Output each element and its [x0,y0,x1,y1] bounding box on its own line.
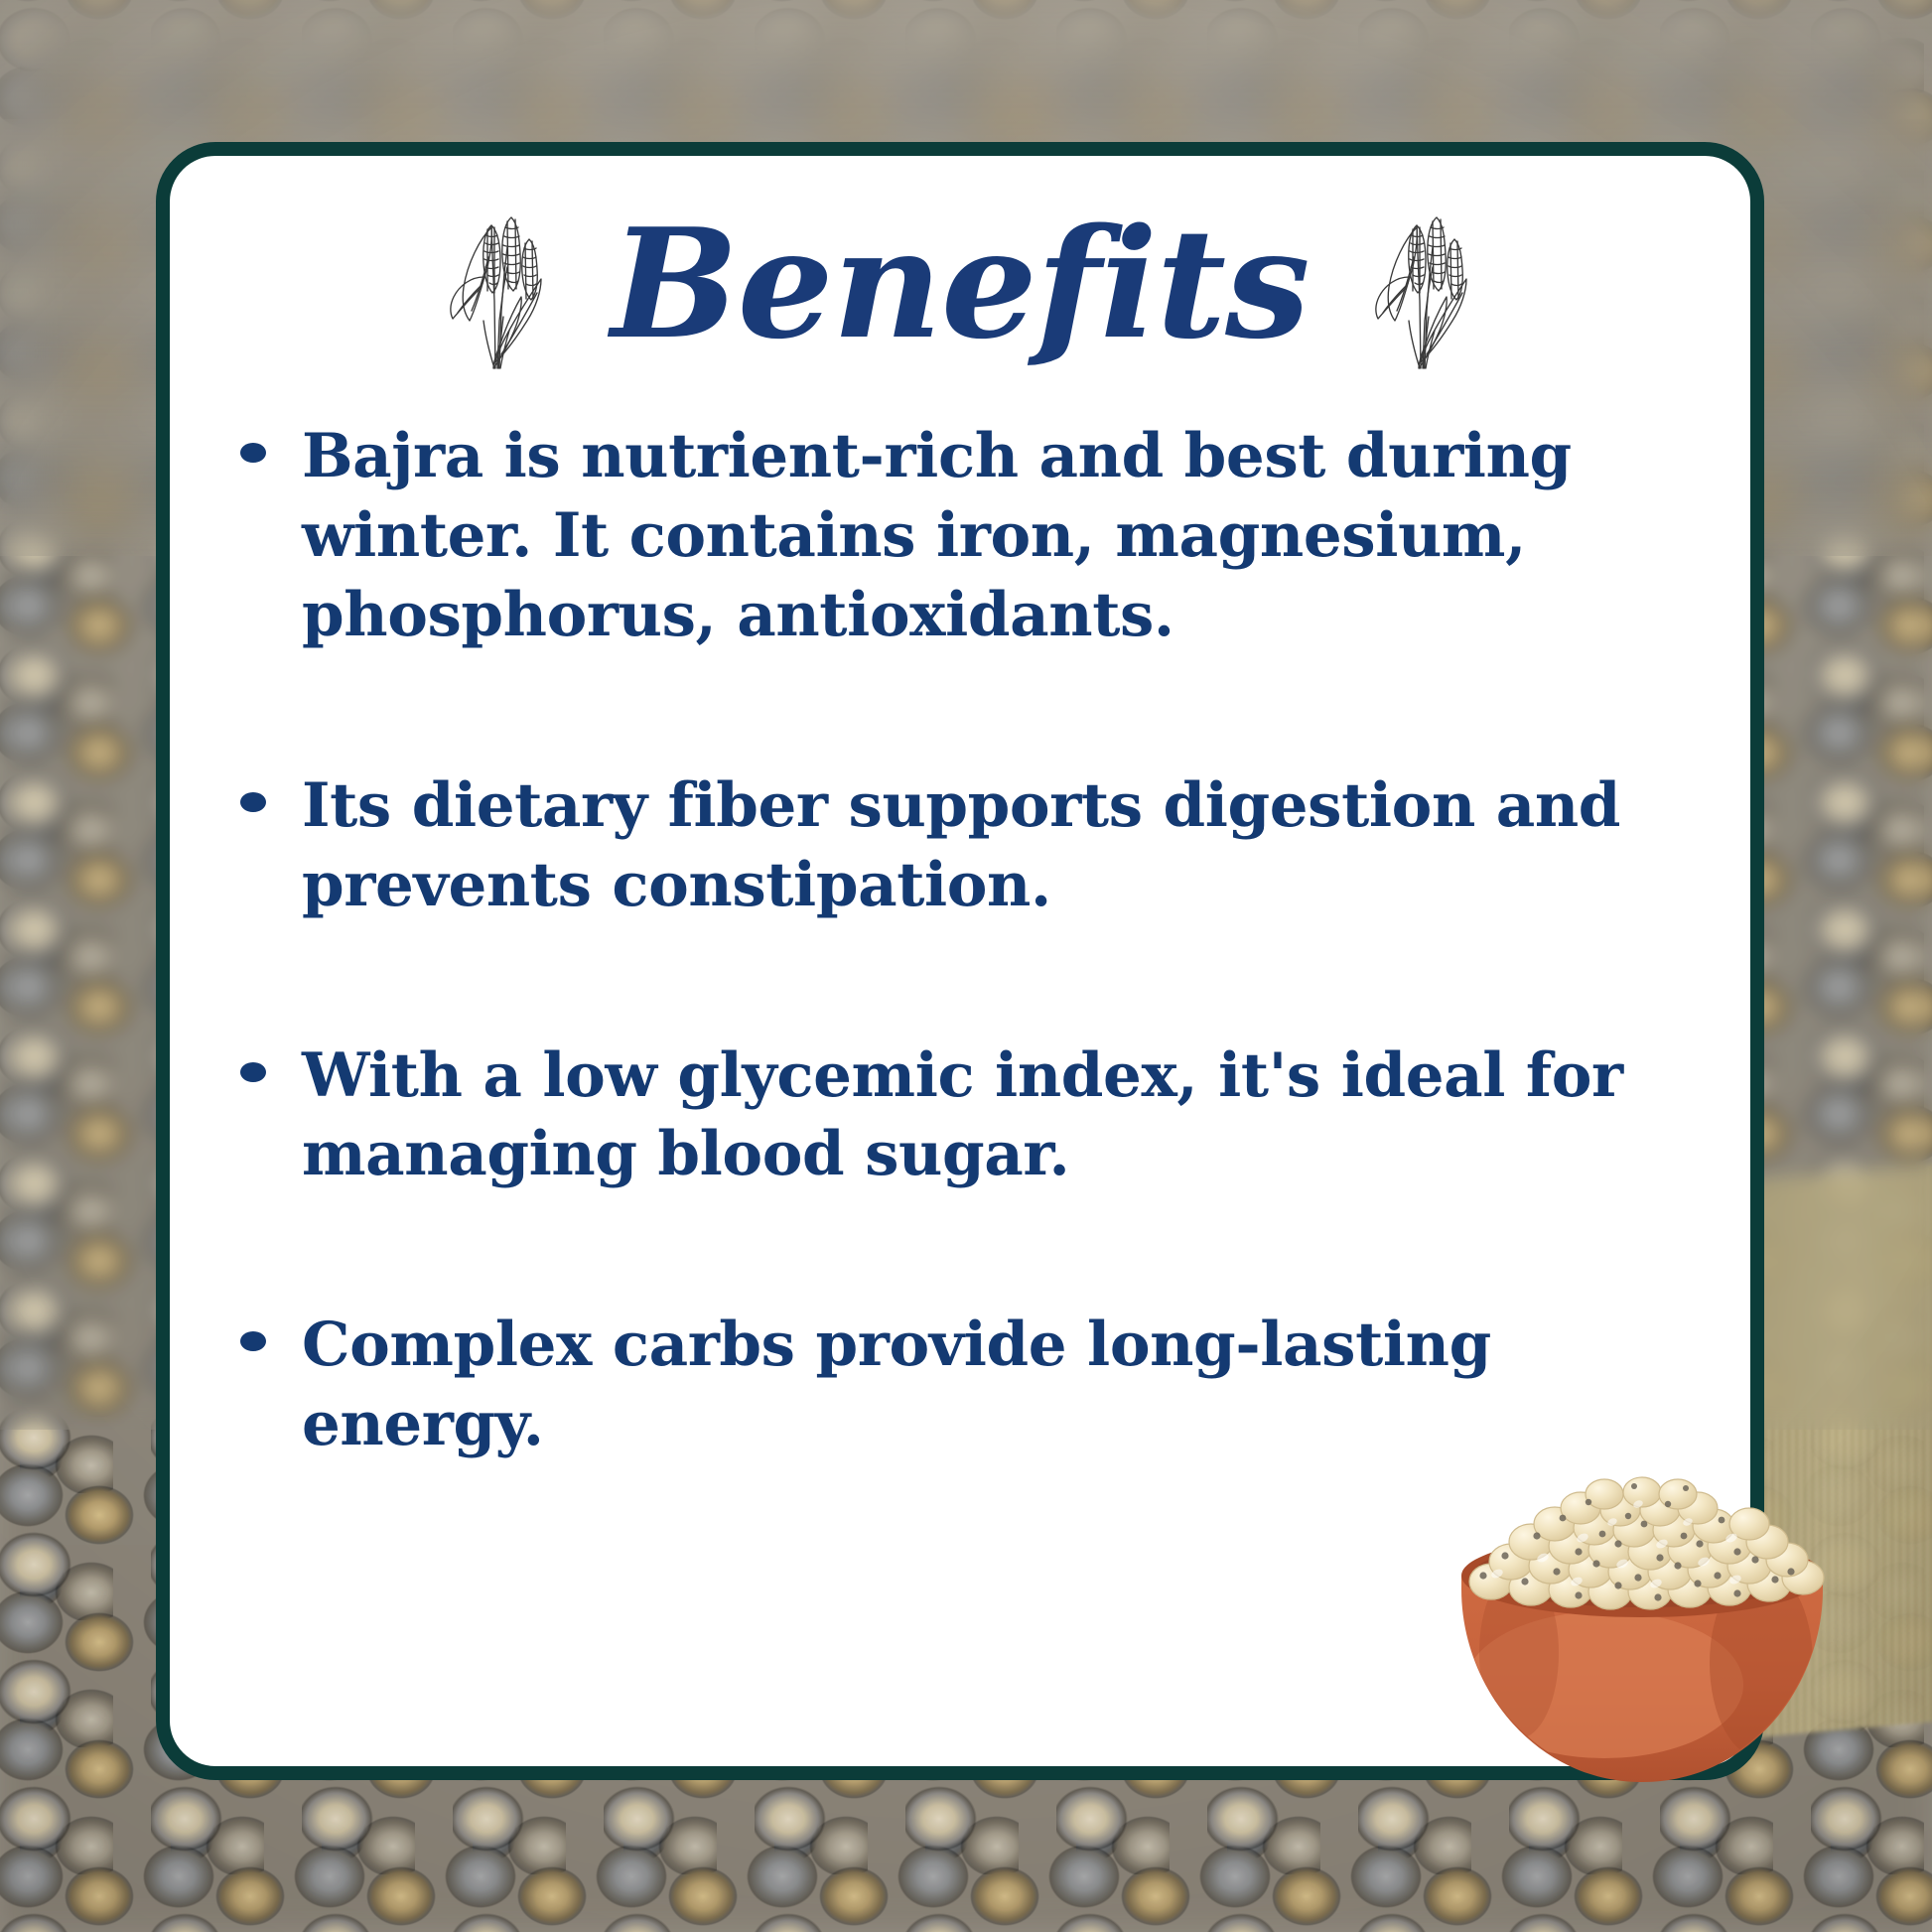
list-item: Bajra is nutrient-rich and best during w… [240,417,1710,655]
bullet-dot-icon [240,792,266,812]
benefit-text-2: Its dietary fiber supports digestion and… [302,766,1710,925]
poster: Benefits [0,0,1932,1932]
page-title: Benefits [611,208,1309,359]
millet-stalk-icon-left [438,182,557,370]
bullet-dot-icon [240,1331,266,1351]
list-item: With a low glycemic index, it's ideal fo… [240,1036,1710,1195]
list-item: Complex carbs provide long-lasting energ… [240,1306,1710,1464]
list-item: Its dietary fiber supports digestion and… [240,766,1710,925]
card-header: Benefits [156,142,1764,410]
benefit-text-1: Bajra is nutrient-rich and best during w… [302,417,1710,655]
benefit-text-4: Complex carbs provide long-lasting energ… [302,1306,1710,1464]
bullet-dot-icon [240,1062,266,1082]
bullet-dot-icon [240,443,266,463]
benefit-text-3: With a low glycemic index, it's ideal fo… [302,1036,1710,1195]
bowl-of-bajra-icon [1434,1464,1851,1792]
benefits-list: Bajra is nutrient-rich and best during w… [240,417,1710,1464]
millet-stalk-icon-right [1363,182,1482,370]
